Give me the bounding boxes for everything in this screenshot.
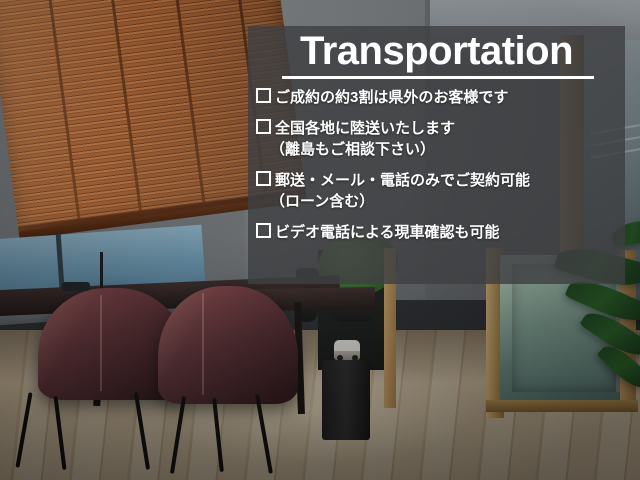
bullet-text: 郵送・メール・電話のみでご契約可能	[275, 172, 530, 189]
display-pedestal	[322, 360, 370, 440]
table-object-base	[62, 282, 90, 291]
bullet-item: 全国各地に陸送いたします	[256, 119, 625, 139]
text-overlay-panel: Transportation ご成約の約3割は県外のお客様です全国各地に陸送いた…	[248, 26, 625, 284]
bullet-square-icon	[256, 171, 271, 186]
bullet-text: ビデオ電話による現車確認も可能	[275, 224, 500, 241]
bullet-square-icon	[256, 223, 271, 238]
chair-seam	[202, 293, 204, 394]
bullet-text: ご成約の約3割は県外のお客様です	[275, 89, 508, 106]
bullet-text: （離島もご相談下さい）	[270, 141, 435, 158]
chair-right	[158, 286, 298, 404]
bullet-text: （ローン含む）	[270, 193, 374, 210]
bullet-item: 郵送・メール・電話のみでご契約可能	[256, 171, 625, 191]
chair-highlight	[158, 286, 298, 404]
bullet-subline: （離島もご相談下さい）	[256, 140, 625, 160]
glass-door-sill	[486, 400, 638, 412]
bullet-item: ご成約の約3割は県外のお客様です	[256, 88, 625, 108]
bullet-square-icon	[256, 119, 271, 134]
chair-seam	[100, 295, 102, 391]
bullet-square-icon	[256, 88, 271, 103]
bullet-text: 全国各地に陸送いたします	[275, 120, 455, 137]
screenshot-root: Transportation ご成約の約3割は県外のお客様です全国各地に陸送いた…	[0, 0, 640, 480]
table-object-stem	[100, 252, 103, 288]
bullet-item: ビデオ電話による現車確認も可能	[256, 223, 625, 243]
page-title: Transportation	[248, 28, 625, 74]
title-divider	[282, 76, 594, 79]
bullet-subline: （ローン含む）	[256, 192, 625, 212]
bullet-list: ご成約の約3割は県外のお客様です全国各地に陸送いたします（離島もご相談下さい）郵…	[256, 88, 625, 243]
